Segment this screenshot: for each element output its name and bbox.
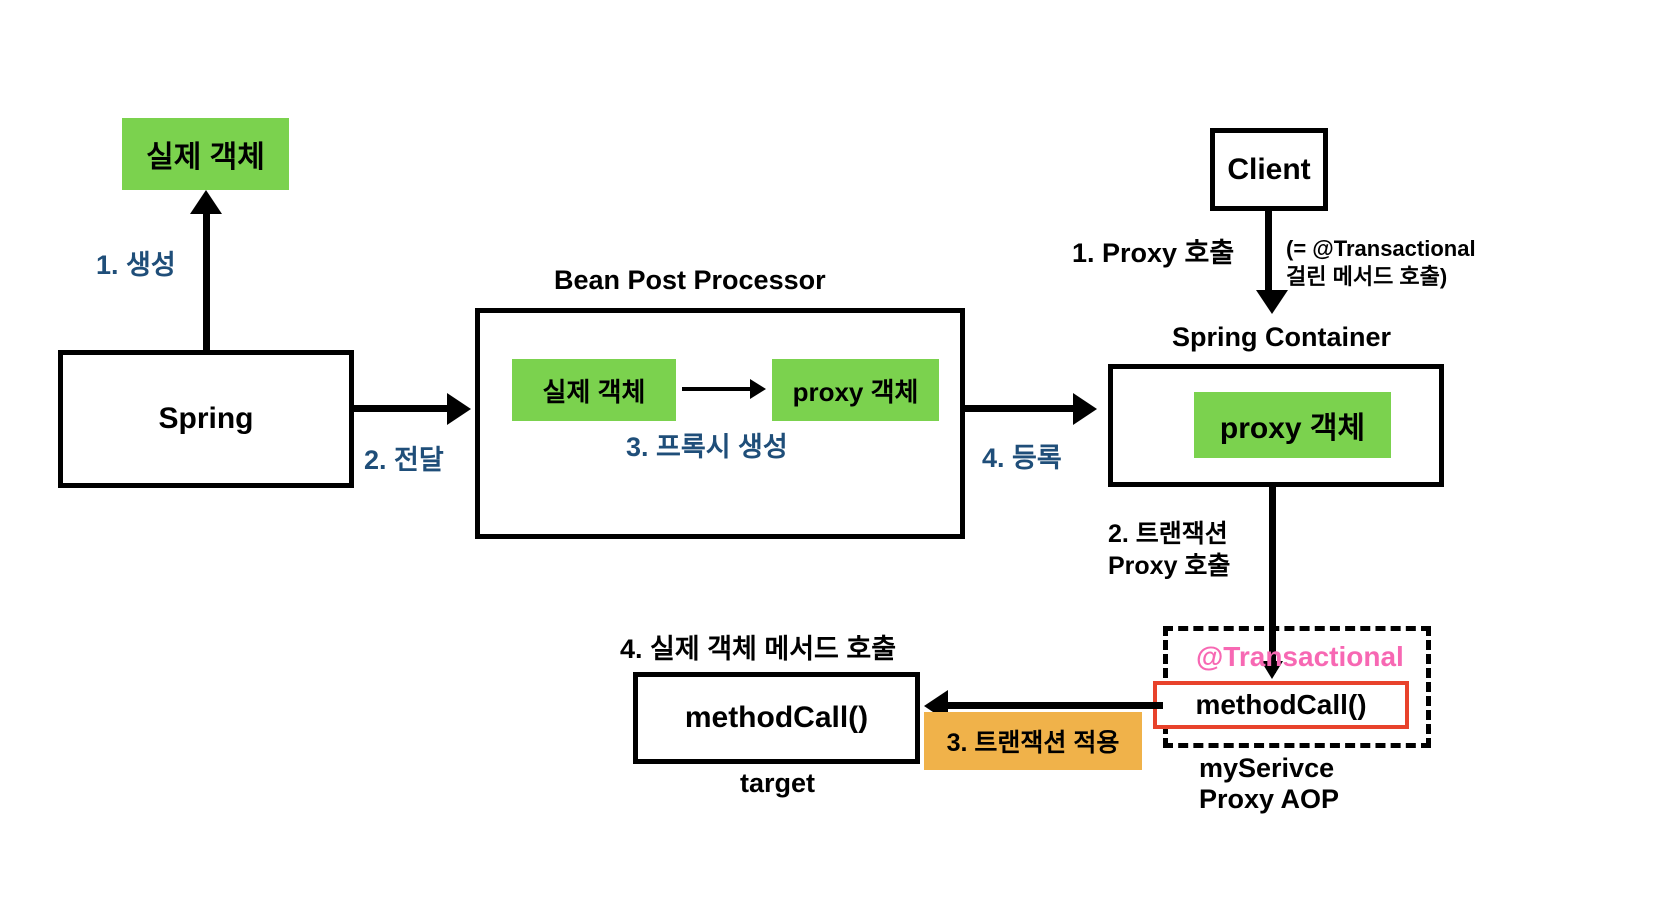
arrowhead-right-container	[1073, 393, 1097, 425]
transactional-note-line2: 걸린 메서드 호출)	[1286, 264, 1447, 290]
transactional-note-line1: (= @Transactional	[1286, 236, 1476, 262]
arrowhead-right-bpp	[447, 393, 471, 425]
transactional-annotation-label: @Transactional	[1196, 640, 1404, 673]
step1-proxy-call-label: 1. Proxy 호출	[1072, 238, 1234, 270]
arrowhead-right-proxy	[750, 379, 766, 399]
step2-deliver-label: 2. 전달	[364, 445, 444, 477]
client-box: Client	[1210, 128, 1328, 211]
step2-tx-proxy-call-line1: 2. 트랜잭션	[1108, 520, 1228, 550]
arrowhead-down-container	[1256, 290, 1288, 314]
real-object-box-bpp: 실제 객체	[512, 359, 676, 421]
proxy-aop-caption-line2: Proxy AOP	[1199, 784, 1339, 816]
step4-real-method-call-label: 4. 실제 객체 메서드 호출	[620, 634, 896, 666]
arrowhead-up-real-object	[190, 190, 222, 214]
target-methodcall-box: methodCall()	[633, 672, 920, 764]
connector-spring-to-bpp	[354, 405, 449, 412]
target-caption: target	[740, 768, 815, 800]
proxy-aop-caption-line1: mySerivce	[1199, 753, 1334, 785]
proxy-methodcall-box: methodCall()	[1153, 681, 1409, 729]
real-object-box-left: 실제 객체	[122, 118, 289, 190]
bean-post-processor-title: Bean Post Processor	[554, 265, 826, 297]
spring-box: Spring	[58, 350, 354, 488]
proxy-object-box-bpp: proxy 객체	[772, 359, 939, 421]
diagram-canvas: 실제 객체 1. 생성 Spring 2. 전달 Bean Post Proce…	[0, 0, 1656, 906]
step1-create-label: 1. 생성	[96, 250, 176, 282]
connector-spring-to-real-object	[203, 208, 210, 352]
connector-bpp-to-container	[965, 405, 1075, 412]
bean-post-processor-box	[475, 308, 965, 539]
proxy-object-box-container: proxy 객체	[1194, 392, 1391, 458]
step3-tx-applied-label: 3. 트랜잭션 적용	[924, 712, 1142, 770]
step3-create-proxy-label: 3. 프록시 생성	[626, 432, 788, 464]
spring-container-title: Spring Container	[1172, 322, 1391, 354]
step2-tx-proxy-call-line2: Proxy 호출	[1108, 552, 1230, 582]
connector-real-to-proxy	[682, 387, 752, 391]
connector-proxy-to-target	[948, 702, 1163, 709]
connector-client-to-container	[1265, 211, 1272, 294]
step4-register-label: 4. 등록	[982, 443, 1062, 475]
